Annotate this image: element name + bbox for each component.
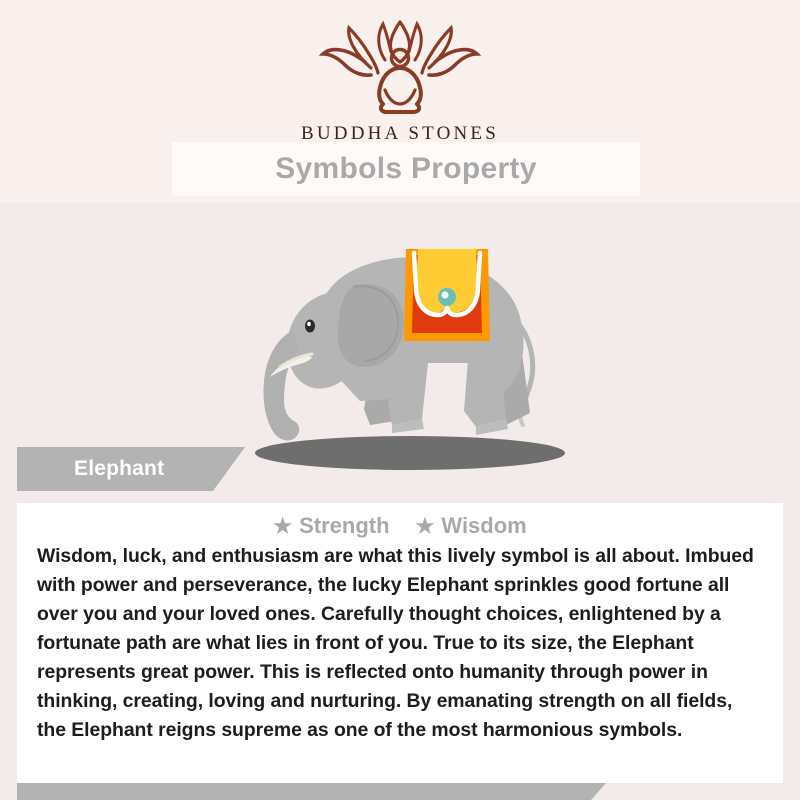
attribute-label: Wisdom	[441, 513, 526, 539]
attribute-wisdom: ★ Wisdom	[416, 513, 527, 539]
card-header: BUDDHA STONES Symbols Property	[0, 0, 800, 203]
elephant-illustration-icon	[200, 213, 600, 488]
symbol-info-card: BUDDHA STONES Symbols Property	[0, 0, 800, 800]
description-panel: ★ Strength ★ Wisdom Wisdom, luck, and en…	[17, 503, 783, 783]
symbol-name-banner: Elephant	[17, 447, 245, 491]
brand-logo: BUDDHA STONES	[0, 18, 800, 145]
star-icon: ★	[273, 516, 292, 537]
attribute-strength: ★ Strength	[273, 513, 389, 539]
symbol-description: Wisdom, luck, and enthusiasm are what th…	[37, 542, 763, 745]
attribute-list: ★ Strength ★ Wisdom	[17, 503, 783, 539]
page-title-strip: Symbols Property	[172, 142, 640, 196]
decorative-bar-bottom	[17, 782, 607, 800]
lotus-meditation-logo-icon	[305, 18, 495, 119]
star-icon: ★	[416, 516, 435, 537]
page-title: Symbols Property	[275, 152, 537, 186]
attribute-label: Strength	[299, 513, 389, 539]
symbol-name: Elephant	[17, 457, 164, 481]
